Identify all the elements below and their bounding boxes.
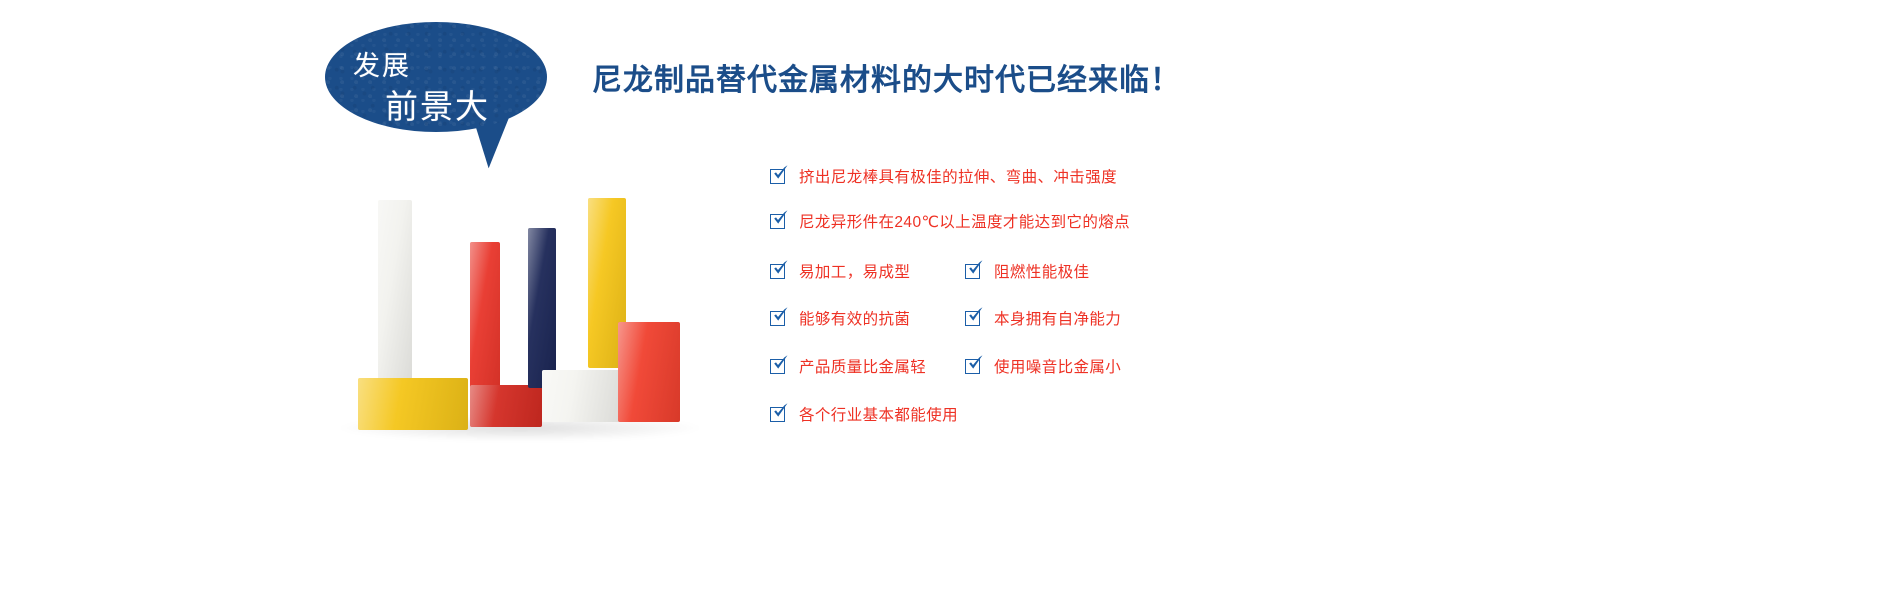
checkbox-checked-icon bbox=[770, 358, 787, 375]
checklist-item-label: 各个行业基本都能使用 bbox=[799, 403, 958, 425]
page-title: 尼龙制品替代金属材料的大时代已经来临！ bbox=[592, 55, 1181, 99]
checkbox-checked-icon bbox=[770, 310, 787, 327]
checklist-item-label: 尼龙异形件在240℃以上温度才能达到它的熔点 bbox=[799, 210, 1130, 232]
checklist-item: 产品质量比金属轻 bbox=[770, 355, 926, 377]
speech-bubble-line-2: 前景大 bbox=[385, 80, 490, 128]
checklist-item: 本身拥有自净能力 bbox=[965, 307, 1121, 329]
yellow-l-base-left bbox=[358, 378, 468, 430]
checkbox-checked-icon bbox=[965, 310, 982, 327]
checklist-item-label: 使用噪音比金属小 bbox=[994, 355, 1121, 377]
checkbox-checked-icon bbox=[770, 168, 787, 185]
product-photo bbox=[330, 170, 730, 470]
checklist-item-label: 阻燃性能极佳 bbox=[994, 260, 1089, 282]
checklist-item-label: 易加工，易成型 bbox=[799, 260, 910, 282]
orange-red-angle bbox=[618, 322, 680, 422]
checklist-item: 尼龙异形件在240℃以上温度才能达到它的熔点 bbox=[770, 210, 1130, 232]
white-u-channel-tall bbox=[378, 200, 412, 400]
checkbox-checked-icon bbox=[965, 263, 982, 280]
checklist-item: 阻燃性能极佳 bbox=[965, 260, 1089, 282]
checklist-item: 能够有效的抗菌 bbox=[770, 307, 910, 329]
checklist-item: 易加工，易成型 bbox=[770, 260, 910, 282]
speech-bubble: 发展 前景大 bbox=[325, 22, 547, 162]
checkbox-checked-icon bbox=[770, 213, 787, 230]
checklist-item: 各个行业基本都能使用 bbox=[770, 403, 958, 425]
checklist-item: 使用噪音比金属小 bbox=[965, 355, 1121, 377]
checkbox-checked-icon bbox=[770, 263, 787, 280]
white-u-channel-small bbox=[542, 370, 620, 422]
navy-flat-bar bbox=[528, 228, 556, 388]
checklist-item-label: 产品质量比金属轻 bbox=[799, 355, 926, 377]
speech-bubble-line-1: 发展 bbox=[353, 44, 411, 83]
promo-banner: 发展 前景大 尼龙制品替代金属材料的大时代已经来临！ 挤出尼龙棒具有极佳的拉伸、… bbox=[0, 0, 1902, 592]
red-base-foot bbox=[470, 385, 542, 427]
checklist-item-label: 能够有效的抗菌 bbox=[799, 307, 910, 329]
checklist-item-label: 挤出尼龙棒具有极佳的拉伸、弯曲、冲击强度 bbox=[799, 165, 1117, 187]
checkbox-checked-icon bbox=[965, 358, 982, 375]
checkbox-checked-icon bbox=[770, 406, 787, 423]
checklist-item-label: 本身拥有自净能力 bbox=[994, 307, 1121, 329]
checklist-item: 挤出尼龙棒具有极佳的拉伸、弯曲、冲击强度 bbox=[770, 165, 1117, 187]
